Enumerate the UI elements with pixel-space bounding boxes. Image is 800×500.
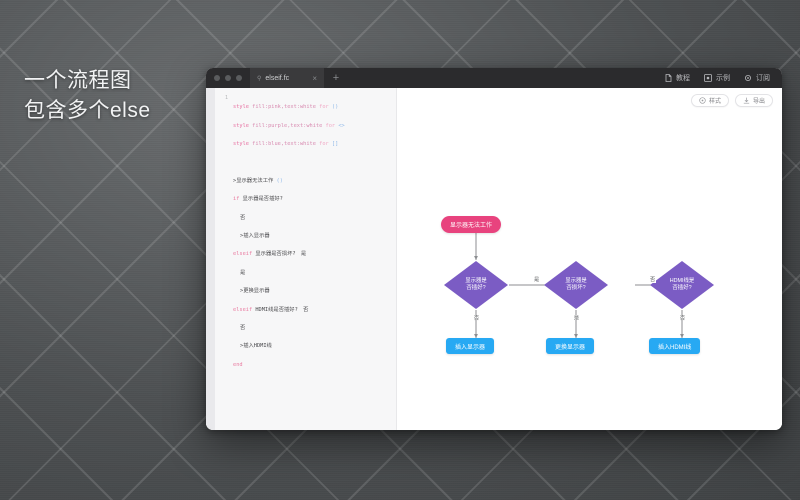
document-icon xyxy=(665,74,672,82)
flowchart-canvas[interactable]: 样式 导出 xyxy=(397,88,782,430)
node-text: 插入显示器 xyxy=(243,233,270,239)
editor-gutter-strip xyxy=(206,88,215,430)
edge-label-d3-down: 否 xyxy=(678,315,687,320)
style-props: fill:blue,text:white xyxy=(252,141,316,147)
style-keyword: style xyxy=(233,123,249,129)
code-line-elseif-1: elseif 显示器是否损坏? 是 xyxy=(233,250,392,259)
diamond-shape xyxy=(543,260,609,310)
titlebar-actions: 教程 示例 订阅 xyxy=(665,68,782,88)
close-window-button[interactable] xyxy=(214,75,220,81)
code-line-style-1: style fill:pink,text:white for () xyxy=(233,103,392,112)
node-text: 显示器是否损坏? 是 xyxy=(255,251,306,257)
code-line-style-2: style fill:purple,text:white for <> xyxy=(233,122,392,131)
flow-node-hdmi-plugged[interactable]: HDMI线是 否插好? xyxy=(649,260,715,310)
for-keyword: for xyxy=(326,123,336,129)
subscribe-label: 订阅 xyxy=(756,73,770,83)
elseif-keyword: elseif xyxy=(233,307,252,313)
shape-token: <> xyxy=(338,123,344,129)
edge-label-d2-down: 是 xyxy=(572,315,581,320)
style-keyword: style xyxy=(233,104,249,110)
flow-node-start[interactable]: 显示器无法工作 xyxy=(441,216,501,233)
edge-label-d2-right: 否 xyxy=(649,276,656,283)
style-props: fill:pink,text:white xyxy=(252,104,316,110)
node-text: 显示器无法工作 xyxy=(236,178,273,184)
shape-token: [] xyxy=(332,141,338,147)
flow-node-start-label: 显示器无法工作 xyxy=(450,220,492,229)
flow-node-monitor-broken[interactable]: 显示器是 否损坏? xyxy=(543,260,609,310)
for-keyword: for xyxy=(319,141,329,147)
flow-node-insert-monitor[interactable]: 插入显示器 xyxy=(446,338,494,354)
shape-token: () xyxy=(332,104,338,110)
maximize-window-button[interactable] xyxy=(236,75,242,81)
flow-node-insert-hdmi[interactable]: 插入HDMI线 xyxy=(649,338,700,354)
flowchart-icon: ⚲ xyxy=(257,75,261,82)
style-keyword: style xyxy=(233,141,249,147)
code-editor-pane[interactable]: 1 style fill:pink,text:white for () styl… xyxy=(206,88,397,430)
code-line-end: end xyxy=(233,361,392,370)
tutorial-button[interactable]: 教程 xyxy=(665,73,690,83)
new-tab-button[interactable]: + xyxy=(324,68,348,88)
code-line-action-1: >插入显示器 xyxy=(233,232,392,241)
for-keyword: for xyxy=(319,104,329,110)
node-text: 插入HDMI线 xyxy=(243,343,272,349)
line-number: 1 xyxy=(215,94,228,103)
flow-node-monitor-plugged[interactable]: 显示器是 否插好? xyxy=(443,260,509,310)
edge-label-d1-down: 否 xyxy=(472,315,481,320)
code-line-if: if 显示器是否插好? xyxy=(233,195,392,204)
node-text: 显示器是否插好? xyxy=(243,196,283,202)
grid-icon xyxy=(704,74,712,82)
node-text: HDMI线是否插好? 否 xyxy=(255,307,308,313)
code-line-start: >显示器无法工作 () xyxy=(233,177,392,186)
code-line-action-3: >插入HDMI线 xyxy=(233,342,392,351)
branch-label: 是 xyxy=(240,270,245,276)
window-controls[interactable] xyxy=(206,68,250,88)
if-keyword: if xyxy=(233,196,239,202)
headline-line-2: 包含多个else xyxy=(24,96,151,126)
diamond-shape xyxy=(649,260,715,310)
shape-token: () xyxy=(277,178,283,184)
code-line-blank xyxy=(233,158,392,167)
subscribe-button[interactable]: 订阅 xyxy=(744,73,770,83)
editor-code-area[interactable]: style fill:pink,text:white for () style … xyxy=(228,88,396,430)
headline-line-1: 一个流程图 xyxy=(24,66,151,96)
code-line-branch-2: 是 xyxy=(233,269,392,278)
code-line-branch-3: 否 xyxy=(233,324,392,333)
flow-node-insert-hdmi-label: 插入HDMI线 xyxy=(658,342,691,351)
style-props: fill:purple,text:white xyxy=(252,123,322,129)
node-text: 更换显示器 xyxy=(243,288,270,294)
elseif-keyword: elseif xyxy=(233,251,252,257)
examples-label: 示例 xyxy=(716,73,730,83)
app-window: ⚲ elseif.fc × + 教程 示例 订阅 xyxy=(206,68,782,430)
code-line-action-2: >更换显示器 xyxy=(233,287,392,296)
end-keyword: end xyxy=(233,362,243,368)
flow-node-replace-monitor[interactable]: 更换显示器 xyxy=(546,338,594,354)
edge-label-d1-right: 是 xyxy=(533,276,540,283)
branch-label: 否 xyxy=(240,325,245,331)
flowchart-connectors xyxy=(397,88,782,430)
code-line-branch-1: 否 xyxy=(233,214,392,223)
window-titlebar: ⚲ elseif.fc × + 教程 示例 订阅 xyxy=(206,68,782,88)
tab-elseif-fc[interactable]: ⚲ elseif.fc × xyxy=(250,68,324,88)
gear-icon xyxy=(744,74,752,82)
window-body: 1 style fill:pink,text:white for () styl… xyxy=(206,88,782,430)
diamond-shape xyxy=(443,260,509,310)
headline: 一个流程图 包含多个else xyxy=(24,66,151,126)
tab-label: elseif.fc xyxy=(265,75,308,82)
code-line-style-3: style fill:blue,text:white for [] xyxy=(233,140,392,149)
flow-node-insert-monitor-label: 插入显示器 xyxy=(455,342,485,351)
examples-button[interactable]: 示例 xyxy=(704,73,730,83)
tutorial-label: 教程 xyxy=(676,73,690,83)
code-line-elseif-2: elseif HDMI线是否插好? 否 xyxy=(233,306,392,315)
minimize-window-button[interactable] xyxy=(225,75,231,81)
flow-node-replace-monitor-label: 更换显示器 xyxy=(555,342,585,351)
editor-line-numbers: 1 xyxy=(215,88,228,430)
close-icon[interactable]: × xyxy=(312,74,317,83)
branch-label: 否 xyxy=(240,215,245,221)
